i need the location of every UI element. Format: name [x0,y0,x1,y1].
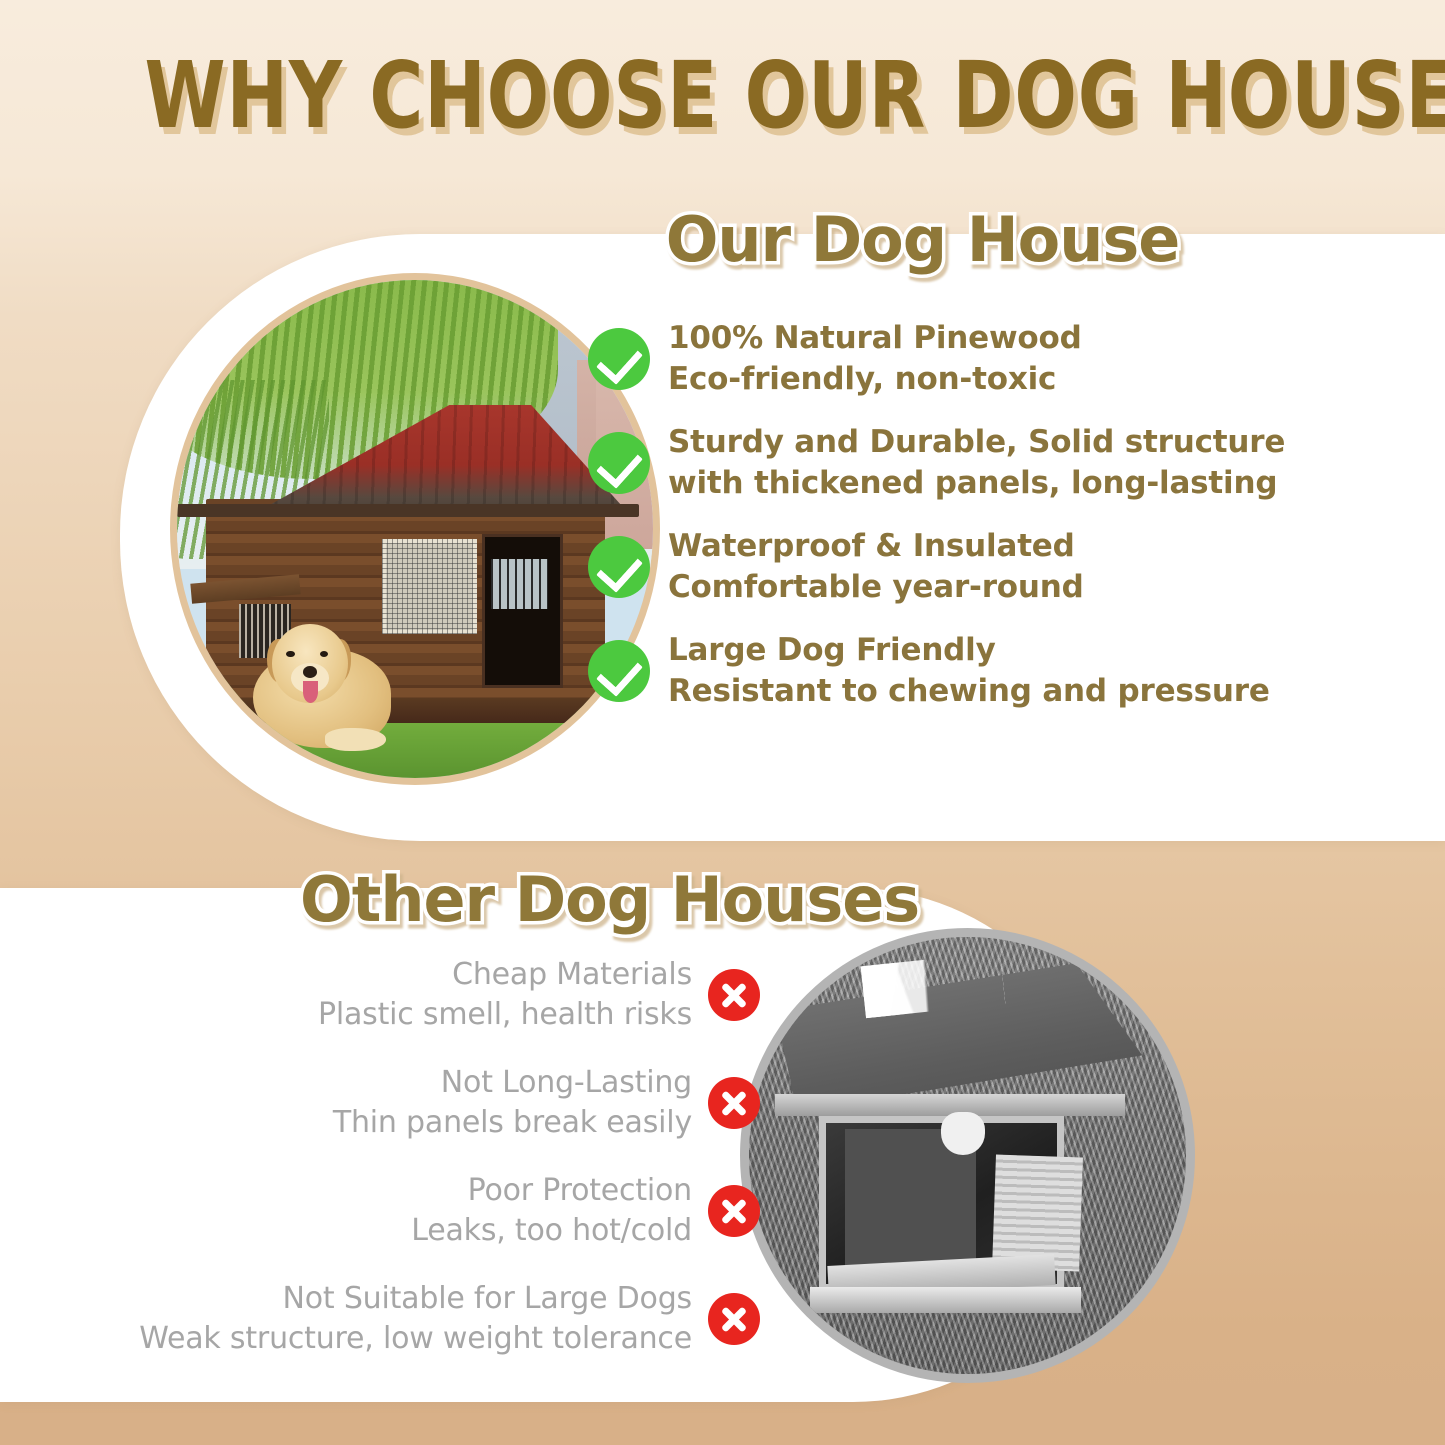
x-icon [708,1077,760,1129]
photo-roof-eave [177,504,639,516]
feature-line-2: with thickened panels, long-lasting [668,463,1285,504]
drawback-text: Not Long-Lasting Thin panels break easil… [333,1063,692,1143]
check-icon [588,640,650,702]
feature-line-1: Waterproof & Insulated [668,528,1075,564]
feature-line-1: Sturdy and Durable, Solid structure [668,424,1285,460]
feature-item: Sturdy and Durable, Solid structure with… [588,422,1378,504]
section-heading-others: Other Dog Houses [0,868,1445,932]
drawback-line-1: Not Long-Lasting [441,1065,692,1100]
photo-ring-ours [170,273,660,785]
feature-item: Waterproof & Insulated Comfortable year-… [588,526,1378,608]
photo-door-window [491,559,548,609]
check-icon [588,432,650,494]
feature-text: Sturdy and Durable, Solid structure with… [668,422,1285,504]
drawback-text: Poor Protection Leaks, too hot/cold [411,1171,692,1251]
section-heading-ours: Our Dog House [0,208,1445,272]
drawback-line-1: Poor Protection [468,1173,692,1208]
feature-line-1: 100% Natural Pinewood [668,320,1082,356]
photo-window-mesh [382,539,477,634]
drawback-text: Cheap Materials Plastic smell, health ri… [318,955,692,1035]
check-icon [588,536,650,598]
x-icon [708,969,760,1021]
other-dog-house-photo [740,928,1195,1383]
photo-doorway [482,534,563,688]
feature-line-1: Large Dog Friendly [668,632,996,668]
infographic-page: WHY CHOOSE OUR DOG HOUSE?" Our Dog House [0,0,1445,1445]
photo-ring-others [740,928,1195,1383]
photo-broken-panel [992,1154,1083,1271]
drawback-line-1: Not Suitable for Large Dogs [283,1281,692,1316]
drawback-item: Cheap Materials Plastic smell, health ri… [60,955,760,1035]
drawback-line-2: Plastic smell, health risks [318,995,692,1035]
drawback-item: Poor Protection Leaks, too hot/cold [60,1171,760,1251]
feature-line-2: Comfortable year-round [668,567,1084,608]
drawbacks-list: Cheap Materials Plastic smell, health ri… [60,955,760,1387]
feature-text: 100% Natural Pinewood Eco-friendly, non-… [668,318,1082,400]
feature-item: 100% Natural Pinewood Eco-friendly, non-… [588,318,1378,400]
drawback-text: Not Suitable for Large Dogs Weak structu… [139,1279,692,1359]
drawback-line-2: Weak structure, low weight tolerance [139,1319,692,1359]
x-icon [708,1185,760,1237]
drawback-line-1: Cheap Materials [452,957,692,992]
feature-text: Waterproof & Insulated Comfortable year-… [668,526,1084,608]
drawback-line-2: Leaks, too hot/cold [411,1211,692,1251]
feature-line-2: Resistant to chewing and pressure [668,671,1270,712]
feature-line-2: Eco-friendly, non-toxic [668,359,1082,400]
x-icon [708,1293,760,1345]
feature-text: Large Dog Friendly Resistant to chewing … [668,630,1270,712]
drawback-item: Not Long-Lasting Thin panels break easil… [60,1063,760,1143]
drawback-item: Not Suitable for Large Dogs Weak structu… [60,1279,760,1359]
features-list: 100% Natural Pinewood Eco-friendly, non-… [588,318,1378,734]
photo-sill [810,1287,1081,1313]
photo-dog-paws [325,728,387,750]
feature-item: Large Dog Friendly Resistant to chewing … [588,630,1378,712]
check-icon [588,328,650,390]
drawback-line-2: Thin panels break easily [333,1103,692,1143]
page-title: WHY CHOOSE OUR DOG HOUSE?" [145,48,1301,144]
our-dog-house-photo [170,273,660,785]
